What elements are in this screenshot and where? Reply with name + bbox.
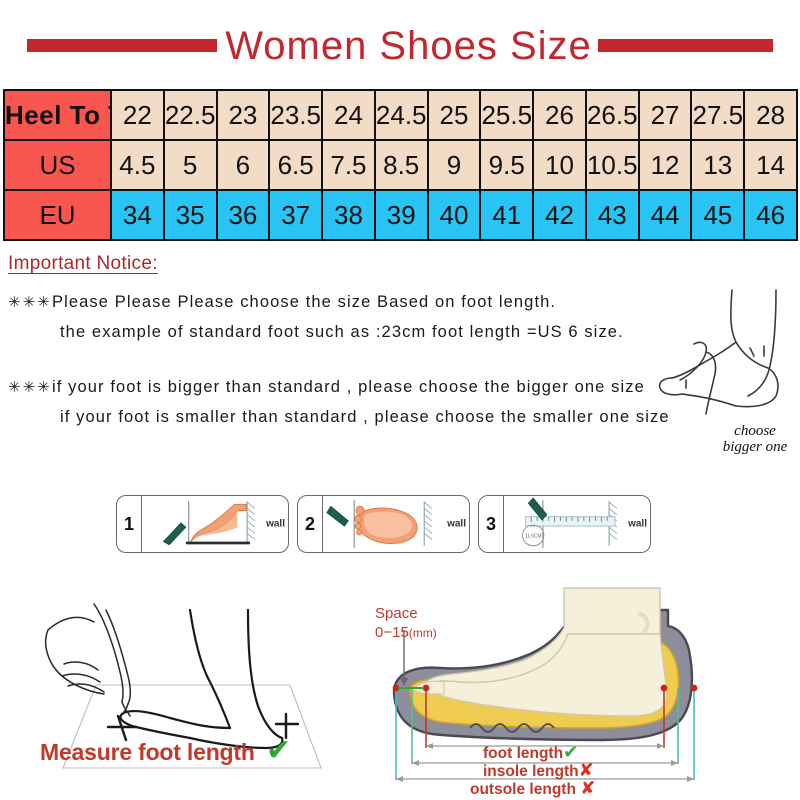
cell-us-4: 7.5: [322, 140, 375, 190]
cell-heel-12: 28: [744, 90, 797, 140]
step-panel-3: 3: [478, 495, 651, 553]
title-rule-left: [27, 39, 217, 52]
cell-heel-4: 24: [322, 90, 375, 140]
asterisk-marker-icon: ✳✳✳: [8, 293, 52, 311]
notice-line-3-text: if your foot is bigger than standard , p…: [52, 378, 645, 396]
cell-us-7: 9.5: [480, 140, 533, 190]
cell-eu-5: 39: [375, 190, 428, 240]
notice-block-1: ✳✳✳Please Please Please choose the size …: [8, 293, 624, 342]
foot-side-sketch-icon: [640, 282, 800, 442]
outsole-length-cross-icon: ✘: [580, 778, 595, 799]
cell-heel-5: 24.5: [375, 90, 428, 140]
foot-sketch-caption-line2: bigger one: [695, 440, 800, 456]
cell-us-11: 13: [691, 140, 744, 190]
notice-line-2: the example of standard foot such as :23…: [8, 323, 624, 342]
cell-heel-9: 26.5: [586, 90, 639, 140]
label-outsole-length-text: outsole length: [470, 781, 576, 798]
foot-sketch-caption-line1: choose: [695, 424, 800, 440]
space-label-line2: 0−15(mm): [375, 624, 437, 641]
cell-eu-1: 35: [164, 190, 217, 240]
asterisk-marker-icon-2: ✳✳✳: [8, 378, 52, 396]
foot-sketch-caption: choose bigger one: [695, 424, 800, 456]
notice-line-2-text: the example of standard foot such as :23…: [60, 323, 624, 341]
cell-us-5: 8.5: [375, 140, 428, 190]
cell-eu-0: 34: [111, 190, 164, 240]
space-unit: (mm): [409, 626, 437, 640]
cell-heel-2: 23: [217, 90, 270, 140]
measurement-steps: 1 wall 2: [116, 495, 651, 553]
cell-heel-8: 26: [533, 90, 586, 140]
page-title: Women Shoes Size: [225, 26, 592, 66]
step-3-badge: 11.5CM: [525, 533, 542, 539]
green-check-icon: ✔: [266, 733, 291, 768]
important-notice-heading: Important Notice:: [8, 253, 158, 275]
step-2-wall-label: wall: [447, 519, 466, 530]
cell-eu-7: 41: [480, 190, 533, 240]
step-number-1: 1: [117, 496, 142, 552]
cell-eu-2: 36: [217, 190, 270, 240]
notice-line-4: if your foot is smaller than standard , …: [8, 408, 670, 427]
cell-us-3: 6.5: [269, 140, 322, 190]
cell-us-8: 10: [533, 140, 586, 190]
space-label-line1: Space: [375, 605, 418, 622]
row-header-eu: EU: [4, 190, 111, 240]
cell-heel-1: 22.5: [164, 90, 217, 140]
step-1-wall-label: wall: [266, 519, 285, 530]
step-3-wall-label: wall: [628, 519, 647, 530]
cell-heel-0: 22: [111, 90, 164, 140]
cell-heel-10: 27: [639, 90, 692, 140]
notice-line-1-text: Please Please Please choose the size Bas…: [52, 293, 556, 311]
notice-line-1: ✳✳✳Please Please Please choose the size …: [8, 293, 624, 312]
cell-us-0: 4.5: [111, 140, 164, 190]
step-2-illustration: wall: [323, 496, 469, 552]
notice-block-2: ✳✳✳if your foot is bigger than standard …: [8, 378, 670, 427]
cell-eu-3: 37: [269, 190, 322, 240]
cell-us-10: 12: [639, 140, 692, 190]
step-panel-2: 2 wall: [297, 495, 470, 553]
table-row-eu: EU 34 35 36 37 38 39 40 41 42 43 44 45 4…: [4, 190, 797, 240]
cell-us-6: 9: [428, 140, 481, 190]
step-number-2: 2: [298, 496, 323, 552]
row-header-us: US: [4, 140, 111, 190]
step-3-illustration: 11.5CM wall: [504, 496, 650, 552]
cell-us-12: 14: [744, 140, 797, 190]
step-1-illustration: wall: [142, 496, 288, 552]
measure-foot-length-caption: Measure foot length: [40, 739, 255, 766]
notice-line-4-text: if your foot is smaller than standard , …: [60, 408, 670, 426]
table-row-us: US 4.5 5 6 6.5 7.5 8.5 9 9.5 10 10.5 12 …: [4, 140, 797, 190]
cell-eu-8: 42: [533, 190, 586, 240]
cell-us-1: 5: [164, 140, 217, 190]
label-outsole-length: outsole length ✘: [470, 778, 595, 799]
table-row-heel-to-toe: Heel To Toe(cm) 22 22.5 23 23.5 24 24.5 …: [4, 90, 797, 140]
space-range-value: 0−15: [375, 624, 409, 641]
step-number-3: 3: [479, 496, 504, 552]
step-panel-1: 1 wall: [116, 495, 289, 553]
page-title-bar: Women Shoes Size: [0, 18, 800, 73]
row-header-heel-to-toe: Heel To Toe(cm): [4, 90, 111, 140]
cell-heel-3: 23.5: [269, 90, 322, 140]
cell-eu-10: 44: [639, 190, 692, 240]
cell-eu-9: 43: [586, 190, 639, 240]
cell-heel-7: 25.5: [480, 90, 533, 140]
cell-eu-6: 40: [428, 190, 481, 240]
cell-us-9: 10.5: [586, 140, 639, 190]
cell-eu-4: 38: [322, 190, 375, 240]
cell-heel-6: 25: [428, 90, 481, 140]
notice-line-3: ✳✳✳if your foot is bigger than standard …: [8, 378, 670, 397]
cell-heel-11: 27.5: [691, 90, 744, 140]
size-chart-table: Heel To Toe(cm) 22 22.5 23 23.5 24 24.5 …: [3, 89, 798, 241]
title-rule-right: [598, 39, 773, 52]
cell-us-2: 6: [217, 140, 270, 190]
cell-eu-12: 46: [744, 190, 797, 240]
cell-eu-11: 45: [691, 190, 744, 240]
